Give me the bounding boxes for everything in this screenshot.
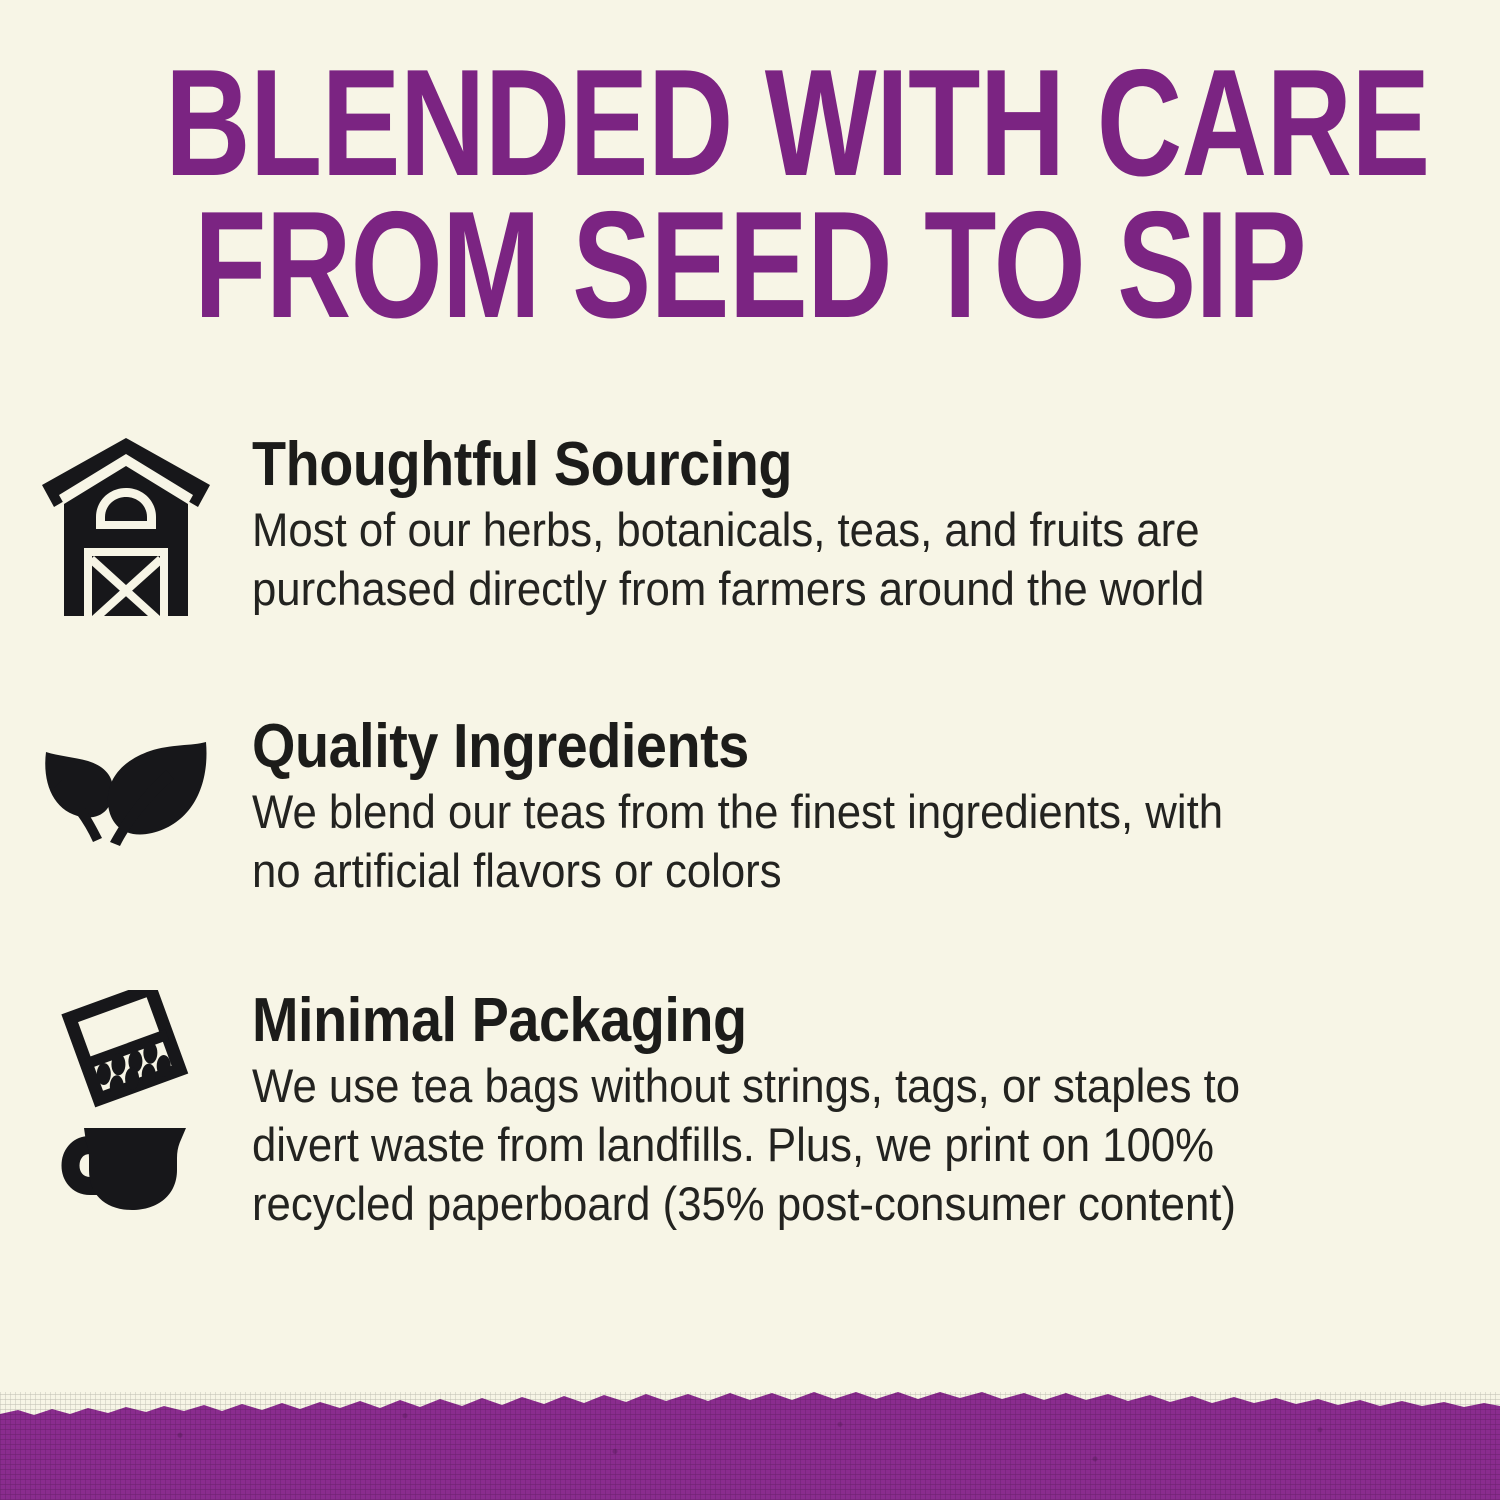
- feature-icon-slot: [0, 988, 252, 1210]
- feature-description: Most of our herbs, botanicals, teas, and…: [252, 500, 1224, 618]
- promo-panel: BLENDED WITH CARE FROM SEED TO SIP: [0, 0, 1500, 1500]
- feature-text-block: Quality Ingredients We blend our teas fr…: [252, 714, 1500, 900]
- headline-line-2: FROM SEED TO SIP: [165, 194, 1335, 336]
- feature-item-thoughtful-sourcing: Thoughtful Sourcing Most of our herbs, b…: [0, 432, 1500, 618]
- feature-text-block: Thoughtful Sourcing Most of our herbs, b…: [252, 432, 1500, 618]
- feature-item-quality-ingredients: Quality Ingredients We blend our teas fr…: [0, 714, 1500, 900]
- feature-item-minimal-packaging: Minimal Packaging We use tea bags withou…: [0, 988, 1500, 1233]
- feature-title: Quality Ingredients: [252, 714, 1249, 780]
- page-title: BLENDED WITH CARE FROM SEED TO SIP: [0, 52, 1500, 336]
- feature-title: Thoughtful Sourcing: [252, 432, 1249, 498]
- teabag-into-mug-icon: [44, 990, 208, 1210]
- headline-line-1: BLENDED WITH CARE: [165, 52, 1335, 194]
- bottom-color-band: [0, 1392, 1500, 1500]
- band-torn-edge-shape: [0, 1392, 1500, 1500]
- feature-description: We use tea bags without strings, tags, o…: [252, 1056, 1280, 1233]
- feature-icon-slot: [0, 714, 252, 846]
- leaves-icon: [40, 738, 212, 846]
- feature-icon-slot: [0, 432, 252, 616]
- feature-text-block: Minimal Packaging We use tea bags withou…: [252, 988, 1500, 1233]
- feature-list: Thoughtful Sourcing Most of our herbs, b…: [0, 432, 1500, 1233]
- feature-title: Minimal Packaging: [252, 988, 1249, 1054]
- feature-description: We blend our teas from the finest ingred…: [252, 782, 1282, 900]
- barn-icon: [41, 438, 211, 616]
